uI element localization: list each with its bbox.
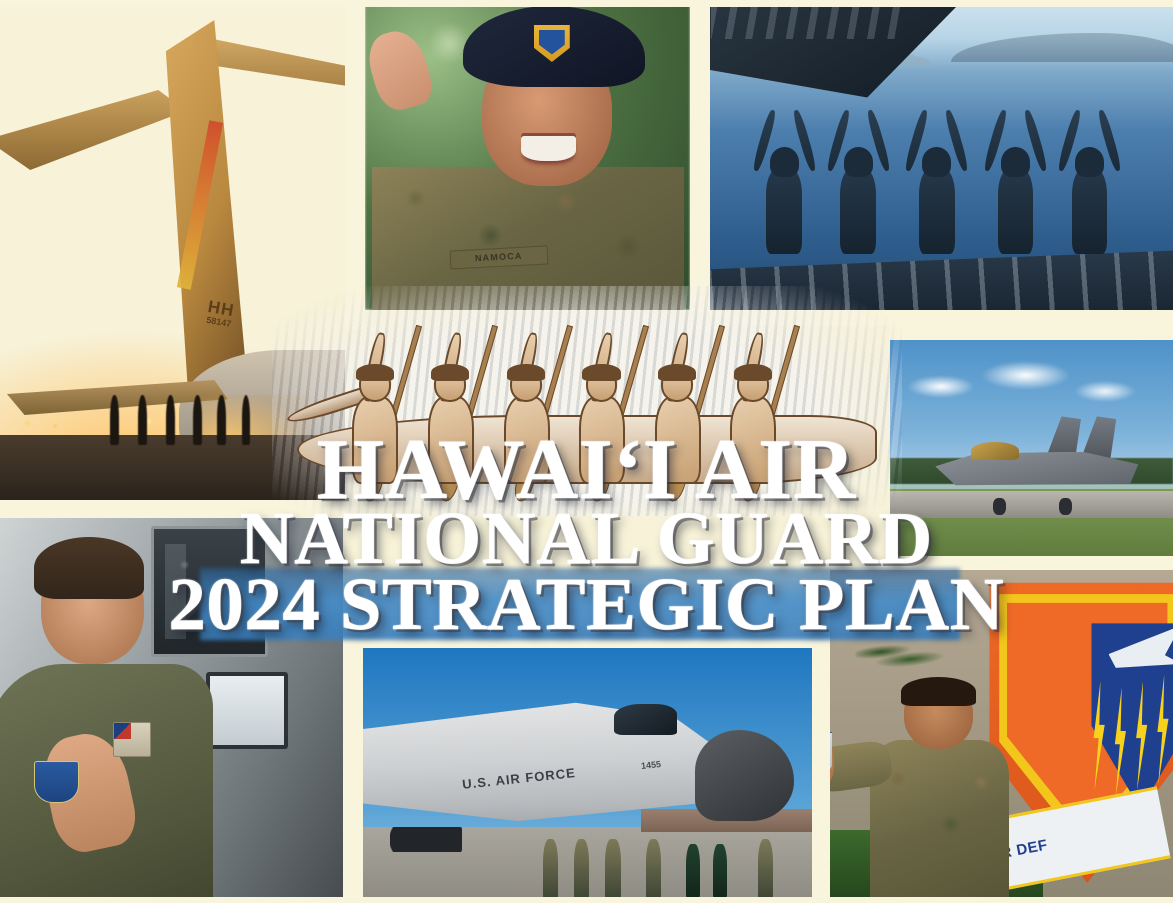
gutter-horizontal bbox=[890, 325, 1173, 340]
gutter-horizontal bbox=[890, 556, 1173, 570]
smile bbox=[521, 136, 576, 161]
gutter-bottom bbox=[0, 897, 1173, 903]
avionics-panel bbox=[151, 526, 268, 657]
photo-f22-raptor-runway bbox=[890, 340, 1173, 562]
landing-gear bbox=[390, 827, 462, 853]
gutter-vertical bbox=[343, 630, 363, 903]
silhouette-person bbox=[242, 395, 251, 445]
cockpit-windows bbox=[614, 704, 677, 735]
canoe-paddler bbox=[486, 332, 565, 484]
ground-crew-figure bbox=[543, 839, 558, 900]
canoe-paddler bbox=[562, 332, 641, 484]
silhouette-person bbox=[138, 395, 147, 445]
ground-crew-figure bbox=[758, 839, 773, 900]
canoe-paddler bbox=[335, 332, 414, 484]
ground-crew-figure bbox=[574, 839, 589, 900]
unit-patch-icon bbox=[34, 761, 79, 803]
silhouette-person bbox=[193, 395, 202, 445]
silhouette-person bbox=[166, 395, 175, 445]
clouds bbox=[890, 353, 1173, 433]
canoe-paddler bbox=[411, 332, 490, 484]
laptop-screen bbox=[206, 672, 288, 749]
illustration-outrigger-canoe bbox=[272, 286, 902, 516]
hair bbox=[901, 677, 976, 706]
airman-figure bbox=[830, 117, 886, 254]
gutter-horizontal bbox=[363, 632, 812, 648]
hawaii-flag-patch-icon bbox=[113, 722, 151, 757]
ground-crew-figure bbox=[713, 844, 726, 898]
gutter-vertical bbox=[345, 0, 365, 330]
f22-aircraft bbox=[935, 424, 1156, 504]
silhouette-person bbox=[110, 395, 119, 445]
photo-security-forces-portrait: NAMOCA bbox=[365, 0, 690, 310]
photo-airman-with-coin: 298TH AIR DEF bbox=[830, 570, 1173, 903]
ground-crew-figure bbox=[605, 839, 620, 900]
photo-shaka-on-ramp bbox=[710, 0, 1173, 325]
canoe-paddler bbox=[713, 332, 792, 484]
airman-figure bbox=[909, 117, 965, 254]
silhouette-person bbox=[217, 395, 226, 445]
gutter-top bbox=[0, 0, 1173, 7]
canoe-paddler bbox=[637, 332, 716, 484]
hair bbox=[34, 537, 144, 599]
photo-kc135-stratotanker: U.S. AIR FORCE 1455 bbox=[363, 648, 812, 903]
gutter-vertical bbox=[812, 630, 830, 903]
tail-code-marking: HH 58147 bbox=[205, 298, 236, 329]
ground-crew-figure bbox=[686, 844, 699, 898]
airman-figure bbox=[756, 117, 812, 254]
cover-page: HH 58147 NAMOCA bbox=[0, 0, 1173, 903]
airman-figure bbox=[864, 677, 1015, 903]
ground-crew-figure bbox=[646, 839, 661, 900]
photo-aircrew-in-cabin bbox=[0, 518, 343, 903]
airman-figure bbox=[988, 117, 1044, 254]
airman-figure bbox=[1062, 117, 1118, 254]
gutter-vertical bbox=[690, 0, 710, 330]
